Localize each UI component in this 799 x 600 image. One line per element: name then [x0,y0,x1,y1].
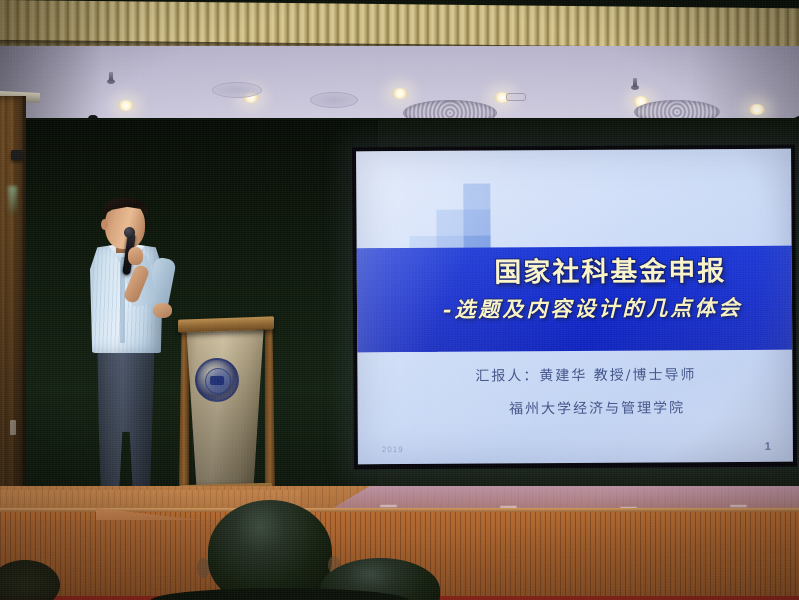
slide-year-mark: 2019 [382,445,404,454]
slide-subtitle: -选题及内容设计的几点体会 [357,292,792,325]
projection-screen-frame: 国家社科基金申报 -选题及内容设计的几点体会 汇报人：黄建华 教授/博士导师 福… [352,145,797,470]
ceiling-sprinkler-icon [633,78,637,87]
mosaic-square [463,210,490,236]
slide-title: 国家社科基金申报 [357,249,792,291]
speaker-hand-left [153,303,172,318]
podium-body [183,330,267,485]
wall-speaker-box [11,150,23,160]
wall-light-reflection [8,186,17,214]
slide-affiliation-line: 福州大学经济与管理学院 [358,397,793,420]
podium-emblem-core [210,376,224,385]
floor-highlight [380,505,397,507]
lecture-hall-photo: 国家社科基金申报 -选题及内容设计的几点体会 汇报人：黄建华 教授/博士导师 福… [0,0,799,600]
slide-page-number: 1 [765,441,771,453]
speaker-ear [101,219,108,230]
microphone-head-icon [124,227,135,238]
ceiling-slot-vent [506,93,526,101]
floor-highlight [730,505,747,507]
ceiling-flush-vent [212,82,262,98]
mosaic-square [436,210,463,236]
projection-screen: 国家社科基金申报 -选题及内容设计的几点体会 汇报人：黄建华 教授/博士导师 福… [356,149,793,465]
ceiling-flush-vent [310,92,358,108]
ceiling-downlight [118,100,134,111]
audience-head-1 [208,500,332,600]
podium-emblem-icon [195,358,239,402]
ceiling-downlight [392,88,408,99]
slide-presenter-line: 汇报人：黄建华 教授/博士导师 [357,364,792,387]
ceiling-sprinkler-icon [109,72,113,81]
wall-switch-plate [10,420,16,435]
ceiling-downlight [749,104,765,115]
mosaic-square [463,184,490,210]
speaker-hand-right [128,247,143,265]
